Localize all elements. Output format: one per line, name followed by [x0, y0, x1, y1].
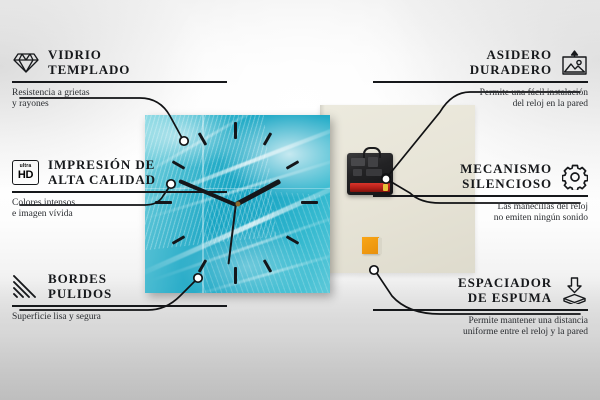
hd-label: HD	[18, 170, 33, 181]
feature-header: BORDES PULIDOS	[12, 272, 227, 301]
ultra-hd-badge-icon: ultra HD	[12, 159, 39, 186]
feature-title: MECANISMO SILENCIOSO	[460, 162, 552, 191]
feature-espaciador-de-espuma[interactable]: ESPACIADOR DE ESPUMA Permite mantener un…	[373, 276, 588, 339]
clock-center-pin	[235, 202, 240, 207]
feature-asidero-duradero[interactable]: ASIDERO DURADERO Permite una fácil insta…	[373, 48, 588, 111]
feature-divider	[373, 309, 588, 311]
feature-subtitle: Resistencia a grietas y rayones	[12, 88, 227, 111]
feature-vidrio-templado[interactable]: VIDRIO TEMPLADO Resistencia a grietas y …	[12, 48, 227, 111]
hour-marker	[234, 122, 237, 139]
feature-divider	[373, 81, 588, 83]
foam-spacer	[362, 237, 379, 254]
mechanism-detail	[353, 169, 362, 176]
feature-header: MECANISMO SILENCIOSO	[373, 162, 588, 191]
feature-mecanismo-silencioso[interactable]: MECANISMO SILENCIOSO Las manecillas del …	[373, 162, 588, 225]
hour-marker	[301, 201, 318, 204]
feature-header: ultra HD IMPRESIÓN DE ALTA CALIDAD	[12, 158, 227, 187]
feature-subtitle: Las manecillas del reloj no emiten ningú…	[373, 202, 588, 225]
gear-icon	[561, 163, 588, 190]
feature-bordes-pulidos[interactable]: BORDES PULIDOS Superficie lisa y segura	[12, 272, 227, 323]
feature-divider	[12, 191, 227, 193]
feature-title: ESPACIADOR DE ESPUMA	[458, 276, 552, 305]
feature-divider	[12, 81, 227, 83]
feature-header: ASIDERO DURADERO	[373, 48, 588, 77]
mechanism-detail	[351, 158, 365, 166]
foam-spacer-side	[378, 238, 382, 254]
feature-header: VIDRIO TEMPLADO	[12, 48, 227, 77]
feature-divider	[12, 305, 227, 307]
feature-header: ESPACIADOR DE ESPUMA	[373, 276, 588, 305]
feature-subtitle: Superficie lisa y segura	[12, 312, 227, 324]
feature-title: VIDRIO TEMPLADO	[48, 48, 130, 77]
feature-subtitle: Permite una fácil instalación del reloj …	[373, 88, 588, 111]
down-arrow-pad-icon	[561, 277, 588, 304]
feature-divider	[373, 195, 588, 197]
hanging-picture-frame-icon	[561, 49, 588, 76]
infographic-canvas: VIDRIO TEMPLADO Resistencia a grietas y …	[0, 0, 600, 400]
feature-subtitle: Colores intensos e imagen vívida	[12, 198, 227, 221]
feature-impresion-alta-calidad[interactable]: ultra HD IMPRESIÓN DE ALTA CALIDAD Color…	[12, 158, 227, 221]
feature-title: BORDES PULIDOS	[48, 272, 112, 301]
hour-marker	[234, 267, 237, 284]
diamond-icon	[12, 49, 39, 76]
diagonal-lines-icon	[12, 273, 39, 300]
feature-subtitle: Permite mantener una distancia uniforme …	[373, 316, 588, 339]
feature-title: ASIDERO DURADERO	[470, 48, 552, 77]
feature-title: IMPRESIÓN DE ALTA CALIDAD	[48, 158, 156, 187]
